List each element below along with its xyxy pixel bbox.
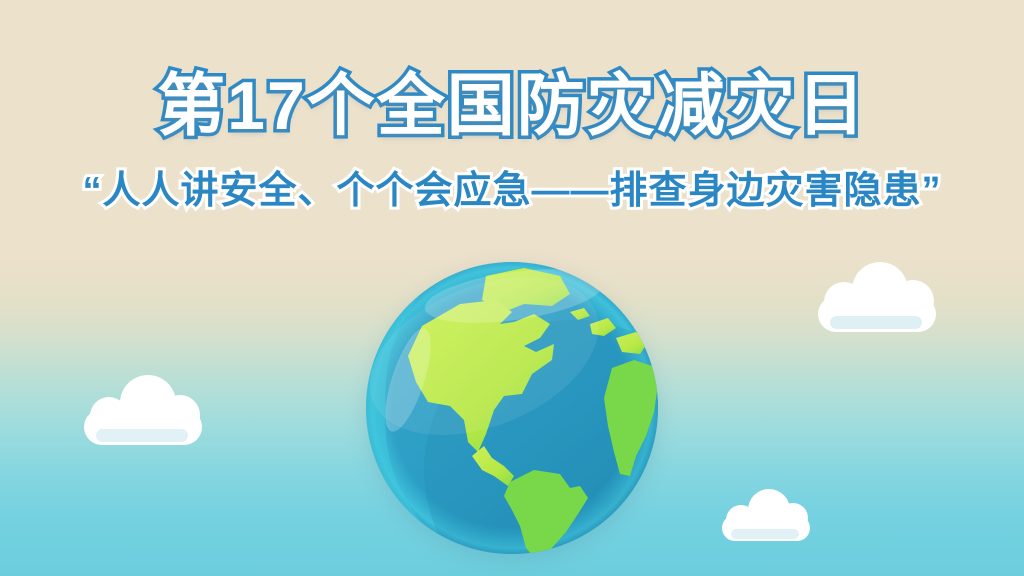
cloud-shadow xyxy=(96,429,188,442)
cloud-puff xyxy=(824,282,864,322)
page-title: 第17个全国防灾减灾日 xyxy=(0,72,1024,140)
cloud-puff xyxy=(852,262,908,318)
cloud-puff xyxy=(90,397,128,435)
cloud-left xyxy=(84,375,202,445)
cloud-shadow xyxy=(731,529,799,539)
cloud-puff xyxy=(748,489,790,531)
cloud-base xyxy=(818,296,936,332)
cloud-shadow xyxy=(830,316,922,329)
cloud-puff xyxy=(778,503,808,533)
page-subtitle: “人人讲安全、个个会应急——排查身边灾害隐患” xyxy=(0,172,1024,210)
cloud-puff xyxy=(892,280,934,322)
poster-canvas: 第17个全国防灾减灾日 “人人讲安全、个个会应急——排查身边灾害隐患” xyxy=(0,0,1024,576)
cloud-base xyxy=(722,515,810,541)
cloud-right xyxy=(818,262,936,332)
earth-globe-icon xyxy=(364,260,660,556)
cloud-puff xyxy=(120,375,176,431)
cloud-puff xyxy=(726,505,756,535)
cloud-puff xyxy=(160,395,200,435)
cloud-base xyxy=(84,409,202,445)
cloud-bottom-right xyxy=(722,489,810,541)
